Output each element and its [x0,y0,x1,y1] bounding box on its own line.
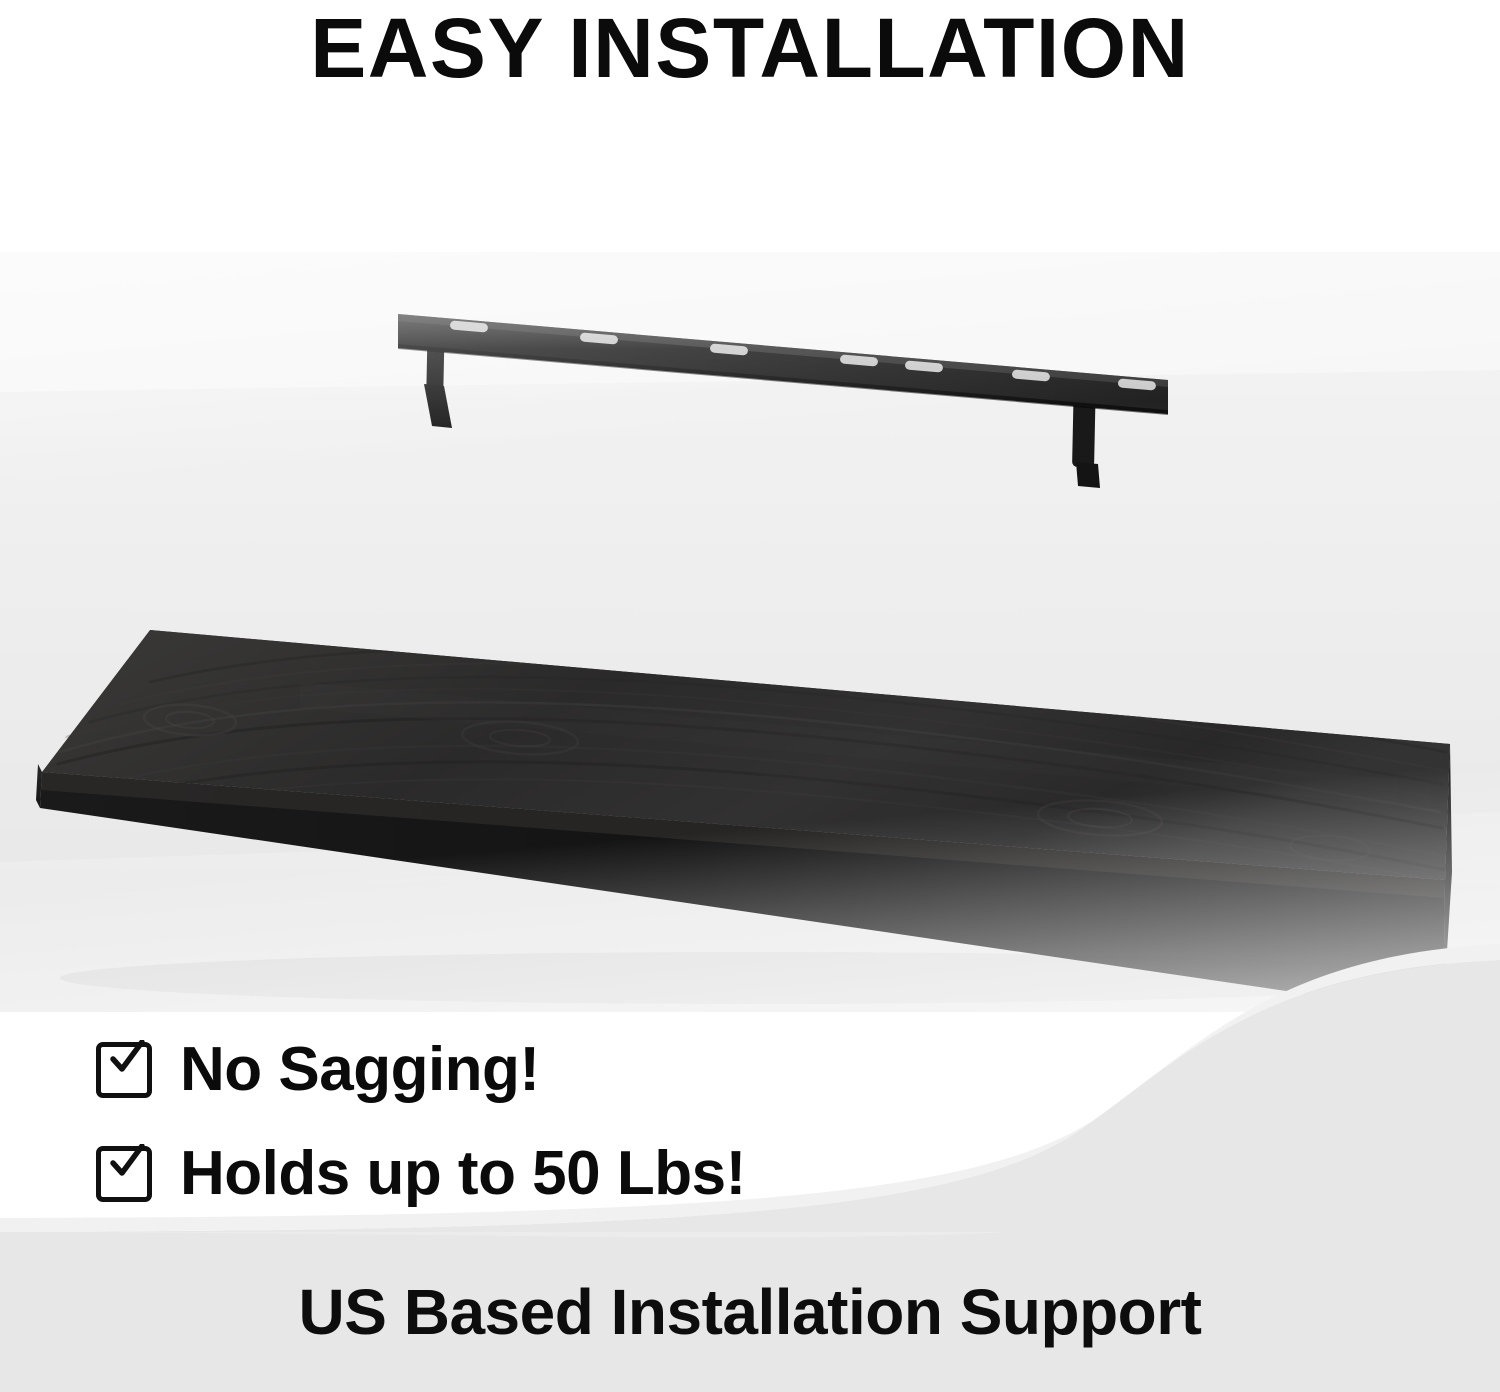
footer-band: US Based Installation Support [0,1232,1500,1392]
check-mark-icon [109,1040,145,1076]
checklist-item-label: No Sagging! [180,1039,540,1101]
product-photo [0,252,1500,1012]
header-band: EASY INSTALLATION [0,0,1500,252]
page-title: EASY INSTALLATION [310,0,1190,96]
product-photo-band [0,252,1500,1012]
checkbox-checked-icon [96,1042,152,1098]
checklist-item-label: Holds up to 50 Lbs! [180,1143,746,1205]
check-mark-icon [109,1144,145,1180]
product-feature-image: EASY INSTALLATION [0,0,1500,1392]
list-item: Holds up to 50 Lbs! [96,1122,1096,1226]
checkbox-checked-icon [96,1146,152,1202]
footer-support-text: US Based Installation Support [0,1232,1500,1392]
list-item: No Sagging! [96,1018,1096,1122]
